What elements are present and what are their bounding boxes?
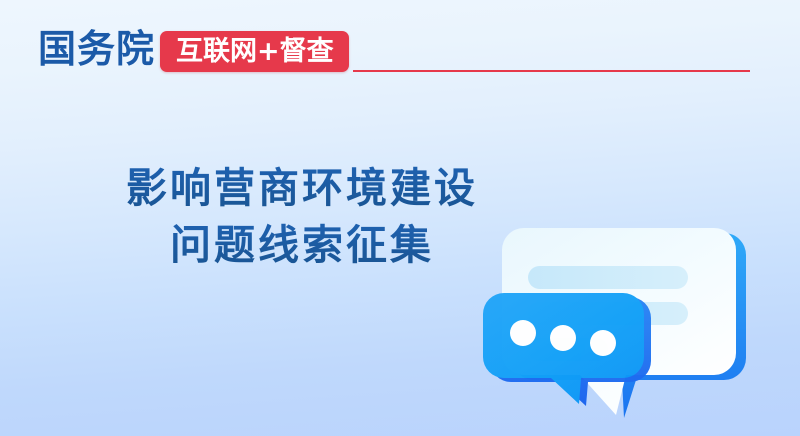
banner-header: 国务院 互联网+督查 xyxy=(0,0,800,100)
header-rule-icon xyxy=(353,70,750,72)
title-line-1: 影响营商环境建设 xyxy=(0,160,604,217)
large-bubble-text-line-1 xyxy=(528,266,688,289)
badge-label: 互联网+督查 xyxy=(176,37,334,67)
small-bubble-dot-1 xyxy=(510,320,536,346)
promo-banner: 国务院 互联网+督查 影响营商环境建设 问题线索征集 xyxy=(0,0,800,436)
chat-bubbles-illustration xyxy=(478,214,778,436)
small-bubble-dot-2 xyxy=(550,325,576,351)
small-bubble-dot-3 xyxy=(590,330,616,356)
internet-plus-supervision-badge: 互联网+督查 xyxy=(160,31,349,72)
state-council-logo: 国务院 xyxy=(38,26,155,72)
